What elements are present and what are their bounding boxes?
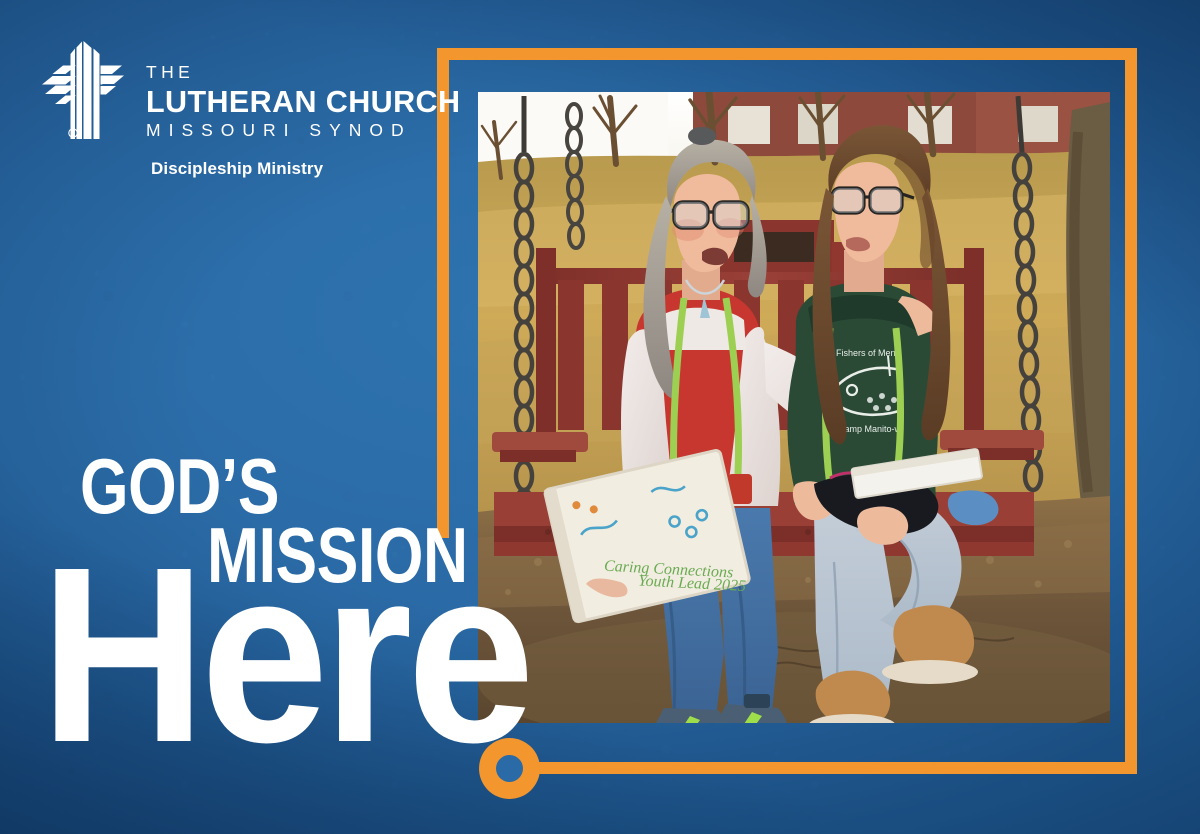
lcms-cross-icon: R [36, 38, 128, 142]
logo-line-synod: MISSOURI SYNOD [146, 122, 460, 140]
orange-ring-accent-icon [479, 738, 540, 799]
lcms-cross-svg: R [36, 38, 128, 142]
svg-text:R: R [71, 132, 75, 138]
poster-canvas: Caring Connections Youth Lead 2025 [0, 0, 1200, 834]
frame-bar-bottom [490, 762, 1137, 774]
photo-image: Caring Connections Youth Lead 2025 [478, 92, 1110, 723]
svg-text:Fishers of Men: Fishers of Men [836, 348, 896, 358]
logo-line-the: THE [146, 64, 460, 82]
logo-lockup: R THE LUTHERAN CHURCH MISSOURI SYNOD Dis… [36, 38, 460, 177]
logo-line-name: LUTHERAN CHURCH [146, 87, 460, 118]
logo-wordmark: THE LUTHERAN CHURCH MISSOURI SYNOD Disci… [146, 38, 460, 177]
logo-sub-line: Discipleship Ministry [151, 160, 460, 177]
frame-bar-right [1125, 48, 1137, 774]
photo-illustration: Caring Connections Youth Lead 2025 [478, 92, 1110, 723]
frame-bar-top [437, 48, 1137, 60]
